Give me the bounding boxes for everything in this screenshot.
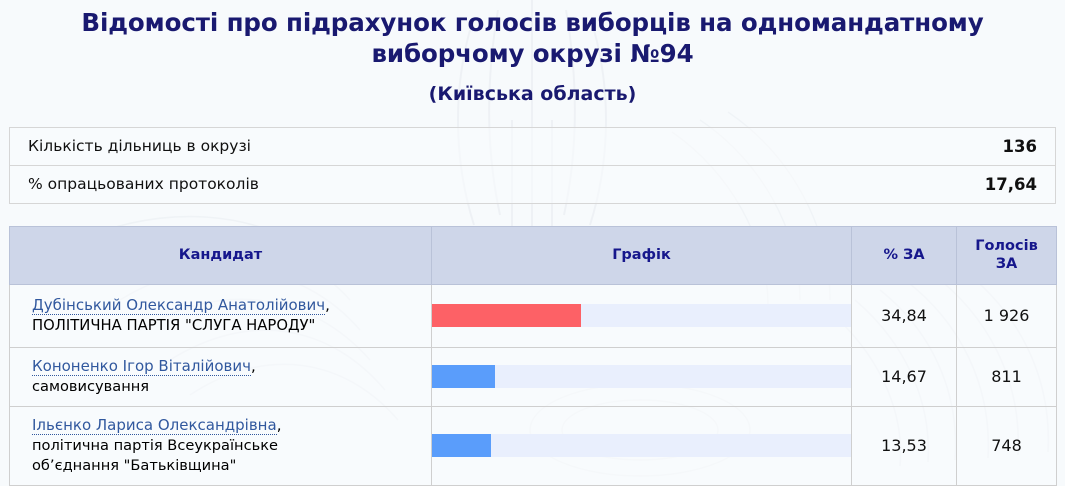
candidate-cell: Кононенко Ігор Віталійович, самовисуванн… bbox=[10, 347, 432, 406]
candidate-cell: Ільєнко Лариса Олександрівна, політична … bbox=[10, 406, 432, 485]
bar-fill bbox=[432, 365, 495, 388]
protocols-processed-label: % опрацьованих протоколів bbox=[10, 165, 795, 203]
candidate-party: ПОЛІТИЧНА ПАРТІЯ "СЛУГА НАРОДУ" bbox=[32, 316, 421, 336]
column-header-votes[interactable]: Голосів ЗА bbox=[957, 226, 1057, 284]
percent-value: 13,53 bbox=[852, 406, 957, 485]
candidate-cell: Дубінський Олександр Анатолійович, ПОЛІТ… bbox=[10, 284, 432, 347]
column-header-votes-line-1: Голосів bbox=[975, 238, 1038, 254]
bar-track bbox=[432, 365, 851, 388]
results-table: Кандидат Графік % ЗА Голосів ЗА Дубінськ… bbox=[9, 226, 1057, 486]
column-header-chart[interactable]: Графік bbox=[432, 226, 852, 284]
candidate-name-separator: , bbox=[325, 296, 330, 314]
chart-cell bbox=[432, 347, 852, 406]
results-table-header-row: Кандидат Графік % ЗА Голосів ЗА bbox=[10, 226, 1057, 284]
table-row: % опрацьованих протоколів 17,64 bbox=[10, 165, 1056, 203]
votes-value: 811 bbox=[957, 347, 1057, 406]
candidate-name-separator: , bbox=[277, 416, 282, 434]
precincts-total-value: 136 bbox=[795, 127, 1056, 165]
bar-track bbox=[432, 434, 851, 457]
candidate-name-link[interactable]: Ільєнко Лариса Олександрівна bbox=[32, 416, 277, 435]
table-row: Дубінський Олександр Анатолійович, ПОЛІТ… bbox=[10, 284, 1057, 347]
candidate-name-separator: , bbox=[251, 357, 256, 375]
summary-info-table: Кількість дільниць в окрузі 136 % опраць… bbox=[9, 127, 1056, 204]
candidate-party: політична партія Всеукраїнське bbox=[32, 436, 421, 455]
page-title: Відомості про підрахунок голосів виборці… bbox=[60, 8, 1005, 70]
page-root: Відомості про підрахунок голосів виборці… bbox=[0, 0, 1065, 486]
chart-cell bbox=[432, 284, 852, 347]
table-row: Кількість дільниць в окрузі 136 bbox=[10, 127, 1056, 165]
candidate-party: самовисування bbox=[32, 377, 421, 396]
page-subtitle: (Київська область) bbox=[60, 83, 1005, 105]
table-row: Кононенко Ігор Віталійович, самовисуванн… bbox=[10, 347, 1057, 406]
votes-value: 1 926 bbox=[957, 284, 1057, 347]
candidate-name-link[interactable]: Дубінський Олександр Анатолійович bbox=[32, 296, 325, 315]
protocols-processed-value: 17,64 bbox=[795, 165, 1056, 203]
table-row: Ільєнко Лариса Олександрівна, політична … bbox=[10, 406, 1057, 485]
column-header-candidate[interactable]: Кандидат bbox=[10, 226, 432, 284]
bar-fill bbox=[432, 304, 581, 327]
page-title-line-2: виборчому окрузі №94 bbox=[60, 39, 1005, 70]
chart-cell bbox=[432, 406, 852, 485]
column-header-votes-line-2: ЗА bbox=[996, 256, 1018, 272]
page-title-block: Відомості про підрахунок голосів виборці… bbox=[0, 0, 1065, 105]
percent-value: 14,67 bbox=[852, 347, 957, 406]
precincts-total-label: Кількість дільниць в окрузі bbox=[10, 127, 795, 165]
candidate-name-link[interactable]: Кононенко Ігор Віталійович bbox=[32, 357, 251, 376]
column-header-percent[interactable]: % ЗА bbox=[852, 226, 957, 284]
bar-track bbox=[432, 304, 851, 327]
page-title-line-1: Відомості про підрахунок голосів виборці… bbox=[60, 8, 1005, 39]
bar-fill bbox=[432, 434, 491, 457]
percent-value: 34,84 bbox=[852, 284, 957, 347]
candidate-party-line-2: об’єднання "Батьківщина" bbox=[32, 456, 421, 475]
votes-value: 748 bbox=[957, 406, 1057, 485]
